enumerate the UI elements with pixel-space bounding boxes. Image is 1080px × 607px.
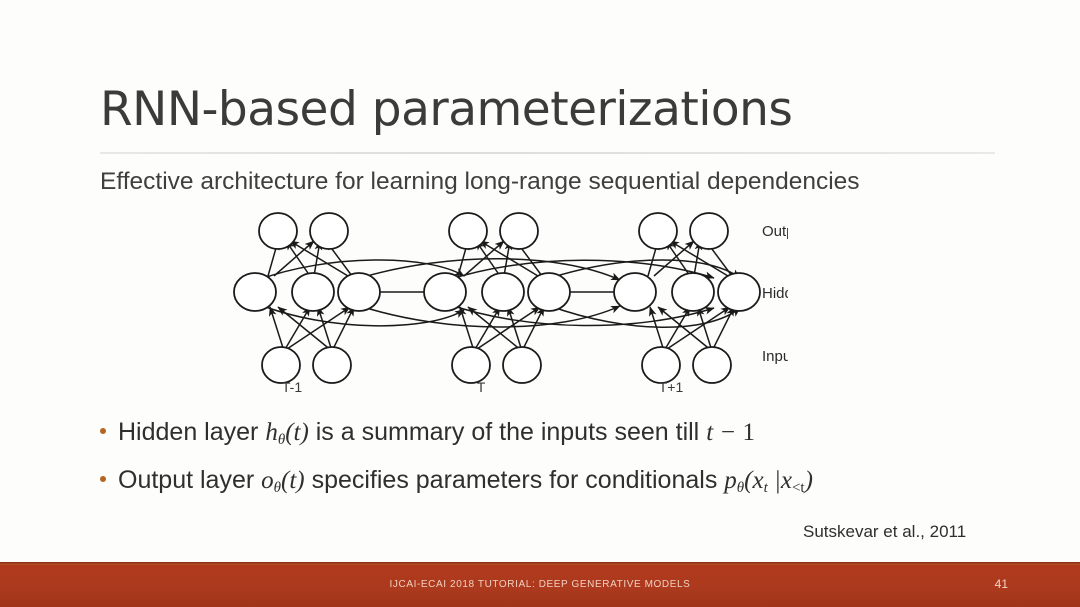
list-item: Output layer oθ(t) specifies parameters … xyxy=(100,466,813,497)
bullet-2-text: Output layer oθ(t) specifies parameters … xyxy=(118,466,813,497)
layer-label-output: Output xyxy=(762,223,788,240)
bullet-dot-icon xyxy=(100,476,106,482)
list-item: Hidden layer hθ(t) is a summary of the i… xyxy=(100,418,755,449)
page-title: RNN-based parameterizations xyxy=(100,82,792,137)
page-number: 41 xyxy=(995,562,1008,607)
slide-footer: IJCAI-ECAI 2018 TUTORIAL: DEEP GENERATIV… xyxy=(0,562,1080,607)
bullet-dot-icon xyxy=(100,428,106,434)
input-nodes xyxy=(262,347,731,383)
time-step-label-t-minus-1: T-1 xyxy=(282,379,302,395)
citation-text: Sutskevar et al., 2011 xyxy=(803,522,966,542)
bullet-1-text: Hidden layer hθ(t) is a summary of the i… xyxy=(118,418,755,449)
title-divider xyxy=(100,152,995,154)
slide-canvas: RNN-based parameterizations Effective ar… xyxy=(0,0,1080,607)
time-step-label-t: T xyxy=(477,379,486,395)
hidden-nodes xyxy=(234,273,760,311)
layer-label-hidden: Hidden xyxy=(762,285,788,302)
slide-subtitle: Effective architecture for learning long… xyxy=(100,168,860,196)
rnn-unrolled-diagram: Output Hidden Input T-1 T T+1 xyxy=(228,210,788,395)
time-step-label-t-plus-1: T+1 xyxy=(659,379,684,395)
footer-title: IJCAI-ECAI 2018 TUTORIAL: DEEP GENERATIV… xyxy=(0,562,1080,607)
layer-label-input: Input xyxy=(762,348,788,365)
output-nodes xyxy=(259,213,728,249)
